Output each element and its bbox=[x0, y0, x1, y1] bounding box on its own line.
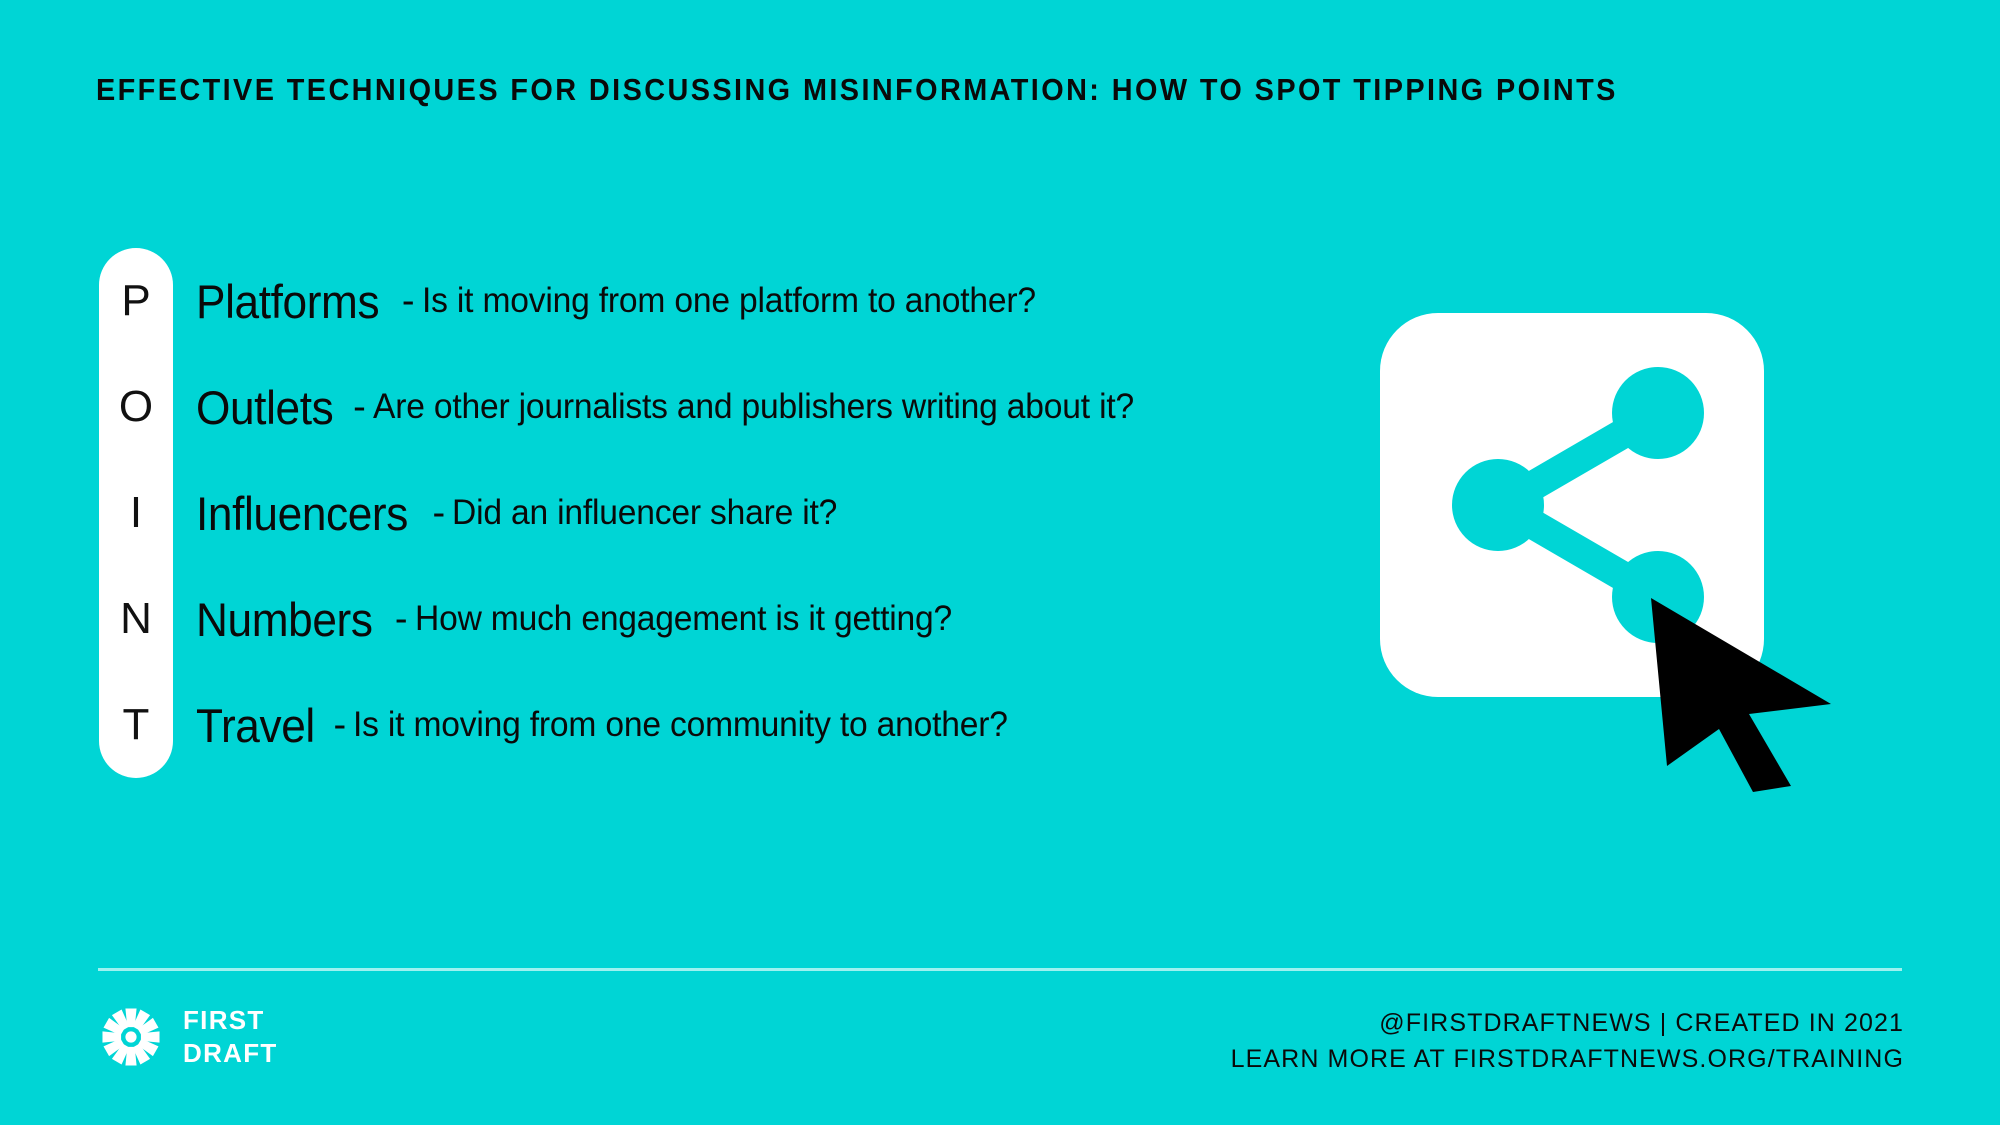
page-title: EFFECTIVE TECHNIQUES FOR DISCUSSING MISI… bbox=[96, 72, 1677, 108]
brand-line-draft: DRAFT bbox=[183, 1037, 278, 1070]
acronym-letter-i: I bbox=[99, 460, 173, 566]
point-description: How much engagement is it getting? bbox=[415, 599, 952, 639]
point-term: Travel bbox=[196, 698, 315, 753]
point-dash: - bbox=[322, 704, 353, 747]
brand-lockup: FIRST DRAFT bbox=[100, 1004, 278, 1071]
point-description: Is it moving from one community to anoth… bbox=[353, 705, 1008, 745]
brand-wordmark: FIRST DRAFT bbox=[183, 1004, 278, 1071]
acronym-letter-t: T bbox=[99, 672, 173, 778]
point-description: Did an influencer share it? bbox=[452, 493, 837, 533]
list-item-travel: Travel - Is it moving from one community… bbox=[196, 672, 1316, 778]
acronym-column: P O I N T bbox=[99, 248, 173, 778]
point-term: Influencers bbox=[196, 486, 408, 541]
point-list: Platforms - Is it moving from one platfo… bbox=[196, 248, 1316, 778]
point-dash: - bbox=[422, 492, 453, 535]
social-handle-line: @FIRSTDRAFTNEWS | CREATED IN 2021 bbox=[1231, 1005, 1904, 1041]
list-item-outlets: Outlets - Are other journalists and publ… bbox=[196, 354, 1316, 460]
point-term: Platforms bbox=[196, 274, 379, 329]
list-item-numbers: Numbers - How much engagement is it gett… bbox=[196, 566, 1316, 672]
learn-more-line: LEARN MORE AT FIRSTDRAFTNEWS.ORG/TRAININ… bbox=[1231, 1041, 1904, 1077]
point-description: Is it moving from one platform to anothe… bbox=[422, 281, 1036, 321]
brand-line-first: FIRST bbox=[183, 1004, 278, 1037]
first-draft-rosette-logo-icon bbox=[100, 1006, 162, 1068]
point-dash: - bbox=[384, 598, 415, 641]
point-dash: - bbox=[391, 280, 422, 323]
slide-canvas: EFFECTIVE TECHNIQUES FOR DISCUSSING MISI… bbox=[0, 0, 2000, 1125]
point-term: Outlets bbox=[196, 380, 333, 435]
list-item-influencers: Influencers - Did an influencer share it… bbox=[196, 460, 1316, 566]
point-term: Numbers bbox=[196, 592, 373, 647]
footer-divider bbox=[98, 968, 1902, 971]
footer-meta: @FIRSTDRAFTNEWS | CREATED IN 2021 LEARN … bbox=[1231, 1005, 1904, 1078]
point-description: Are other journalists and publishers wri… bbox=[373, 387, 1134, 427]
list-item-platforms: Platforms - Is it moving from one platfo… bbox=[196, 248, 1316, 354]
acronym-letter-p: P bbox=[99, 248, 173, 354]
mouse-pointer-icon bbox=[1645, 592, 1835, 792]
acronym-letter-o: O bbox=[99, 354, 173, 460]
point-dash: - bbox=[342, 386, 373, 429]
acronym-letter-n: N bbox=[99, 566, 173, 672]
